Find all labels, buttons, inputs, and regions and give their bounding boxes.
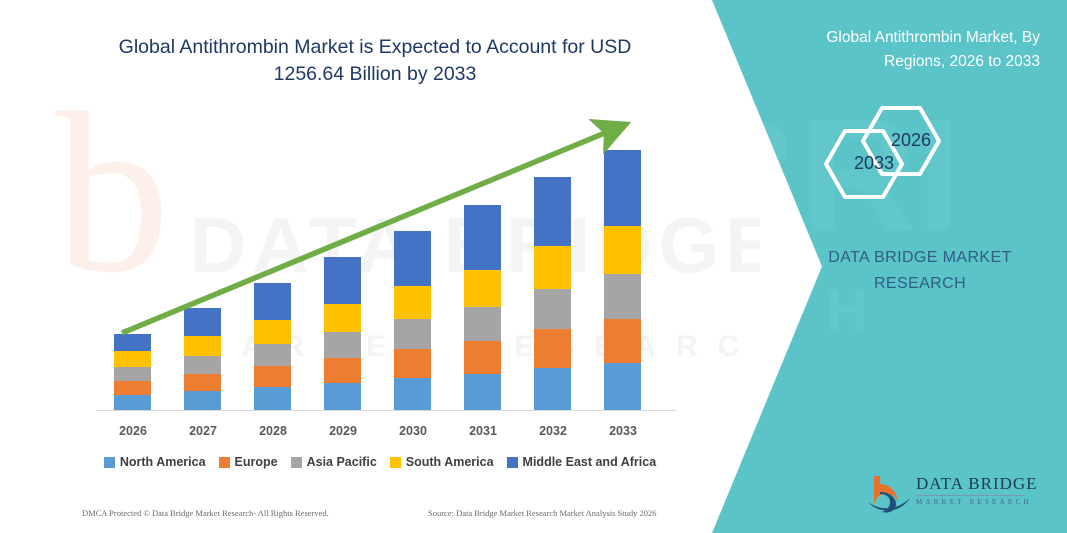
bar-segment-middle-east-and-africa-2026	[114, 334, 151, 351]
bar-segment-asia-pacific-2029	[324, 332, 361, 358]
bar-segment-asia-pacific-2030	[394, 319, 431, 349]
bar-segment-middle-east-and-africa-2027	[184, 308, 221, 336]
bar-segment-north-america-2026	[114, 395, 151, 410]
bar-segment-north-america-2033	[604, 363, 641, 410]
bar-segment-asia-pacific-2032	[534, 289, 571, 329]
legend-item-north-america[interactable]: North America	[104, 455, 206, 469]
bar-segment-south-america-2028	[254, 320, 291, 344]
x-axis-line	[96, 410, 676, 411]
bar-segment-middle-east-and-africa-2029	[324, 257, 361, 304]
bar-segment-south-america-2032	[534, 246, 571, 289]
bar-segment-europe-2030	[394, 349, 431, 378]
brand-wordmark-line2: RESEARCH	[800, 271, 1040, 297]
infographic-root: b DATA BRIDGE MARKET RESEARCH Global Ant…	[0, 0, 1067, 533]
stacked-bar-chart: 20262027202820292030203120322033	[0, 0, 760, 533]
logo-mark-icon	[866, 472, 914, 516]
dbmr-logo: DATA BRIDGE MARKET RESEARCH	[866, 472, 1041, 518]
legend-label-asia-pacific: Asia Pacific	[307, 455, 377, 469]
x-label-2026: 2026	[98, 424, 168, 438]
bar-segment-asia-pacific-2027	[184, 356, 221, 374]
hexagon-group: 2026 2033	[820, 98, 1020, 208]
x-label-2030: 2030	[378, 424, 448, 438]
bar-segment-south-america-2027	[184, 336, 221, 356]
bar-segment-europe-2027	[184, 374, 221, 391]
bar-2030	[394, 231, 431, 410]
bar-segment-asia-pacific-2028	[254, 344, 291, 366]
bar-2027	[184, 308, 221, 410]
bar-2032	[534, 177, 571, 410]
legend-swatch-middle-east-and-africa	[507, 457, 518, 468]
bar-segment-north-america-2032	[534, 368, 571, 410]
footer-copyright: DMCA Protected © Data Bridge Market Rese…	[82, 508, 329, 518]
bar-segment-south-america-2029	[324, 304, 361, 332]
legend-label-south-america: South America	[406, 455, 494, 469]
legend-item-asia-pacific[interactable]: Asia Pacific	[291, 455, 377, 469]
bar-segment-europe-2028	[254, 366, 291, 387]
legend-label-north-america: North America	[120, 455, 206, 469]
bar-segment-asia-pacific-2033	[604, 274, 641, 319]
footer: DMCA Protected © Data Bridge Market Rese…	[0, 508, 760, 528]
hexagon-label-2026: 2026	[882, 130, 940, 151]
legend-item-europe[interactable]: Europe	[219, 455, 278, 469]
regions-title: Global Antithrombin Market, By Regions, …	[770, 26, 1040, 74]
footer-source: Source: Data Bridge Market Research Mark…	[428, 508, 657, 518]
brand-wordmark-line1: DATA BRIDGE MARKET	[800, 245, 1040, 271]
bar-segment-europe-2029	[324, 358, 361, 383]
x-label-2029: 2029	[308, 424, 378, 438]
bar-segment-europe-2026	[114, 381, 151, 395]
logo-text: DATA BRIDGE MARKET RESEARCH	[916, 474, 1038, 506]
bar-2031	[464, 205, 501, 410]
x-label-2027: 2027	[168, 424, 238, 438]
bar-segment-middle-east-and-africa-2028	[254, 283, 291, 320]
bar-segment-north-america-2028	[254, 387, 291, 410]
bar-2026	[114, 334, 151, 410]
legend-label-europe: Europe	[235, 455, 278, 469]
logo-tagline: MARKET RESEARCH	[916, 498, 1038, 506]
legend-swatch-asia-pacific	[291, 457, 302, 468]
bar-segment-south-america-2026	[114, 351, 151, 367]
bar-segment-europe-2032	[534, 329, 571, 368]
bar-segment-north-america-2031	[464, 374, 501, 410]
bar-segment-europe-2031	[464, 341, 501, 374]
bar-segment-asia-pacific-2031	[464, 307, 501, 341]
bar-segment-north-america-2030	[394, 378, 431, 410]
bar-2033	[604, 150, 641, 410]
legend-label-middle-east-and-africa: Middle East and Africa	[523, 455, 657, 469]
bar-segment-south-america-2030	[394, 286, 431, 319]
brand-wordmark: DATA BRIDGE MARKET RESEARCH	[800, 245, 1040, 297]
bar-segment-south-america-2031	[464, 270, 501, 307]
growth-trend-arrow	[0, 0, 760, 533]
legend-swatch-south-america	[390, 457, 401, 468]
legend-item-south-america[interactable]: South America	[390, 455, 494, 469]
bar-2029	[324, 257, 361, 410]
bar-segment-middle-east-and-africa-2033	[604, 150, 641, 226]
chart-panel: b DATA BRIDGE MARKET RESEARCH Global Ant…	[0, 0, 760, 533]
hexagon-label-2033: 2033	[845, 153, 903, 174]
x-label-2032: 2032	[518, 424, 588, 438]
bar-segment-asia-pacific-2026	[114, 367, 151, 381]
bar-segment-north-america-2027	[184, 391, 221, 410]
bar-segment-middle-east-and-africa-2032	[534, 177, 571, 246]
legend-item-middle-east-and-africa[interactable]: Middle East and Africa	[507, 455, 657, 469]
x-label-2028: 2028	[238, 424, 308, 438]
legend-swatch-europe	[219, 457, 230, 468]
bar-segment-middle-east-and-africa-2031	[464, 205, 501, 270]
bar-segment-middle-east-and-africa-2030	[394, 231, 431, 286]
bar-segment-south-america-2033	[604, 226, 641, 274]
bar-segment-north-america-2029	[324, 383, 361, 410]
bar-segment-europe-2033	[604, 319, 641, 363]
logo-divider	[916, 495, 1024, 496]
legend-swatch-north-america	[104, 457, 115, 468]
x-label-2033: 2033	[588, 424, 658, 438]
logo-name: DATA BRIDGE	[916, 474, 1038, 494]
chart-legend: North AmericaEuropeAsia PacificSouth Ame…	[0, 455, 760, 469]
bar-2028	[254, 283, 291, 410]
x-label-2031: 2031	[448, 424, 518, 438]
